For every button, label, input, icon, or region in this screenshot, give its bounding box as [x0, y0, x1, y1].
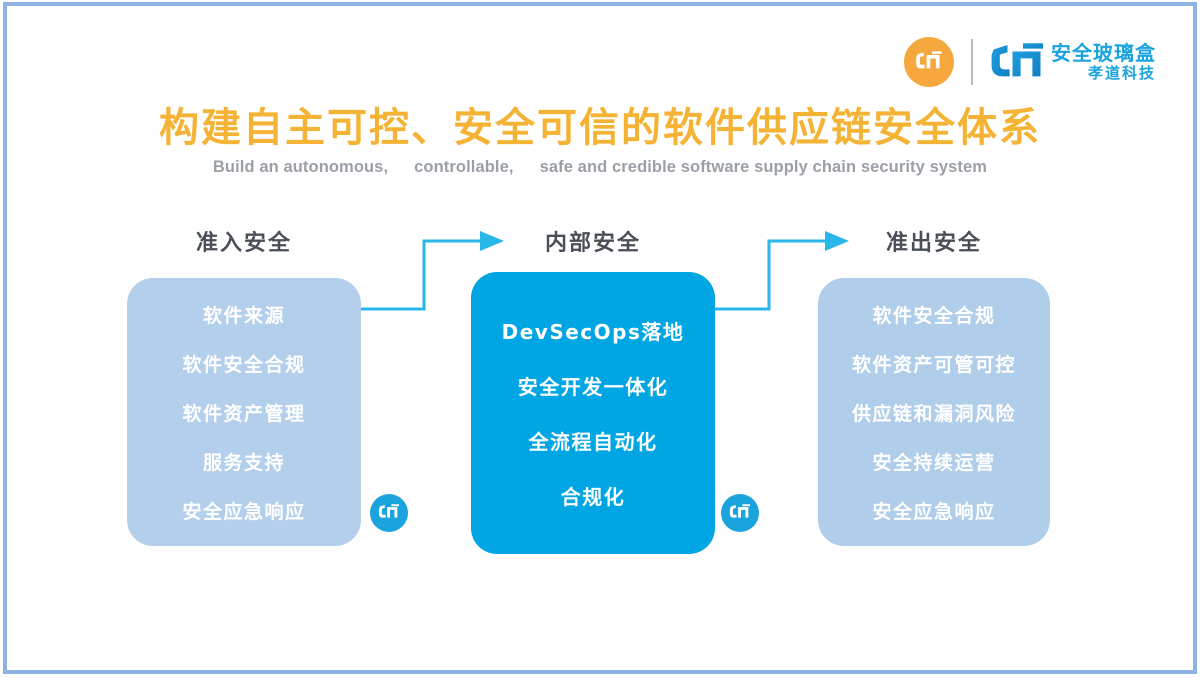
card-entry-security[interactable]: 软件来源 软件安全合规 软件资产管理 服务支持 安全应急响应 [127, 278, 361, 546]
flow-diagram: 准入安全 软件来源 软件安全合规 软件资产管理 服务支持 安全应急响应 内部安全… [0, 225, 1200, 565]
brand-monogram-icon [915, 50, 943, 75]
card-exit-security[interactable]: 软件安全合规 软件资产可管可控 供应链和漏洞风险 安全持续运营 安全应急响应 [818, 278, 1050, 546]
brand-monogram-icon [729, 503, 751, 524]
subtitle-part-3: safe and credible software supply chain … [540, 158, 988, 176]
card-item: 软件资产可管可控 [852, 350, 1016, 377]
column-entry-security: 准入安全 软件来源 软件安全合规 软件资产管理 服务支持 安全应急响应 [127, 225, 361, 546]
connector-badge-1 [370, 494, 408, 532]
brand-name-line1: 安全玻璃盒 [1051, 43, 1156, 63]
card-item: 软件资产管理 [182, 399, 305, 426]
column-internal-security: 内部安全 DevSecOps落地 安全开发一体化 全流程自动化 合规化 [471, 225, 715, 554]
column-label-internal: 内部安全 [471, 225, 715, 257]
header-divider [971, 39, 973, 85]
brand-mark-icon [990, 41, 1044, 84]
brand-text-block: 安全玻璃盒 孝道科技 [1051, 43, 1156, 81]
card-item: 软件安全合规 [182, 350, 305, 377]
card-internal-security[interactable]: DevSecOps落地 安全开发一体化 全流程自动化 合规化 [471, 272, 715, 554]
column-exit-security: 准出安全 软件安全合规 软件资产可管可控 供应链和漏洞风险 安全持续运营 安全应… [818, 225, 1050, 546]
brand-name-line2: 孝道科技 [1051, 66, 1156, 81]
header-logo-group: 安全玻璃盒 孝道科技 [904, 34, 1156, 90]
card-item: 供应链和漏洞风险 [852, 399, 1016, 426]
brand-lockup: 安全玻璃盒 孝道科技 [990, 41, 1156, 84]
subtitle-part-1: Build an autonomous, [213, 158, 388, 176]
brand-circle-logo [904, 37, 954, 87]
card-item: 服务支持 [203, 448, 285, 475]
card-item: 安全开发一体化 [518, 371, 669, 400]
card-item: 合规化 [561, 481, 626, 510]
brand-monogram-icon [378, 503, 400, 524]
column-label-entry: 准入安全 [127, 225, 361, 257]
column-label-exit: 准出安全 [818, 225, 1050, 257]
card-item: 安全持续运营 [872, 448, 995, 475]
card-item: 全流程自动化 [529, 426, 658, 455]
title-block: 构建自主可控、安全可信的软件供应链安全体系 Build an autonomou… [0, 104, 1200, 177]
page-title: 构建自主可控、安全可信的软件供应链安全体系 [0, 104, 1200, 152]
slide-canvas: 安全玻璃盒 孝道科技 构建自主可控、安全可信的软件供应链安全体系 Build a… [0, 0, 1200, 678]
card-item: 软件安全合规 [872, 301, 995, 328]
subtitle-part-2: controllable, [414, 158, 513, 176]
page-subtitle: Build an autonomous,controllable,safe an… [0, 158, 1200, 177]
card-item: 安全应急响应 [182, 497, 305, 524]
card-item: 软件来源 [203, 301, 285, 328]
card-item: DevSecOps落地 [502, 316, 685, 345]
connector-badge-2 [721, 494, 759, 532]
card-item: 安全应急响应 [872, 497, 995, 524]
